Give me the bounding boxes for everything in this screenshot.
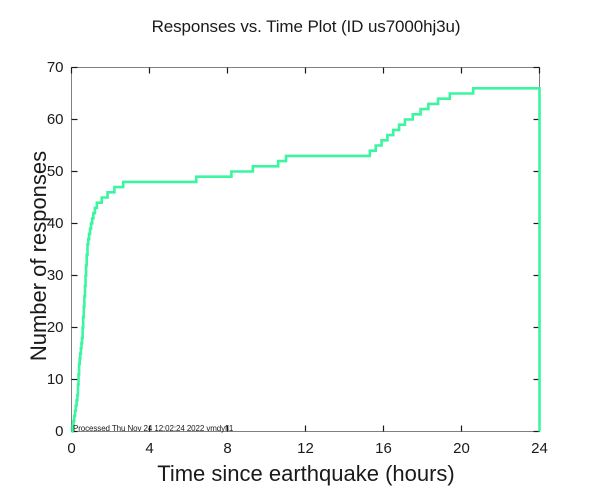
- y-tick-label: 70: [24, 59, 64, 76]
- x-tick-label: 16: [364, 440, 404, 457]
- axis-ticks: [72, 68, 540, 432]
- x-tick-label: 24: [520, 440, 560, 457]
- y-axis-label: Number of responses: [26, 96, 52, 416]
- axes-frame-rect: [72, 68, 540, 432]
- x-tick-label: 4: [130, 440, 170, 457]
- plot-area: 01020304050607004812162024 Processed Thu…: [0, 0, 612, 504]
- x-tick-label: 12: [286, 440, 326, 457]
- x-axis-label: Time since earthquake (hours): [0, 461, 612, 487]
- processed-annotation: Processed Thu Nov 24 12:02:24 2022 vmdyf…: [73, 424, 233, 433]
- x-tick-label: 20: [442, 440, 482, 457]
- response-curve: [72, 88, 540, 431]
- x-tick-label: 8: [208, 440, 248, 457]
- axes-frame: [72, 68, 540, 432]
- chart-figure: Responses vs. Time Plot (ID us7000hj3u) …: [0, 0, 612, 504]
- x-tick-label: 0: [52, 440, 92, 457]
- data-series-group: [72, 88, 540, 431]
- y-tick-label: 0: [24, 423, 64, 440]
